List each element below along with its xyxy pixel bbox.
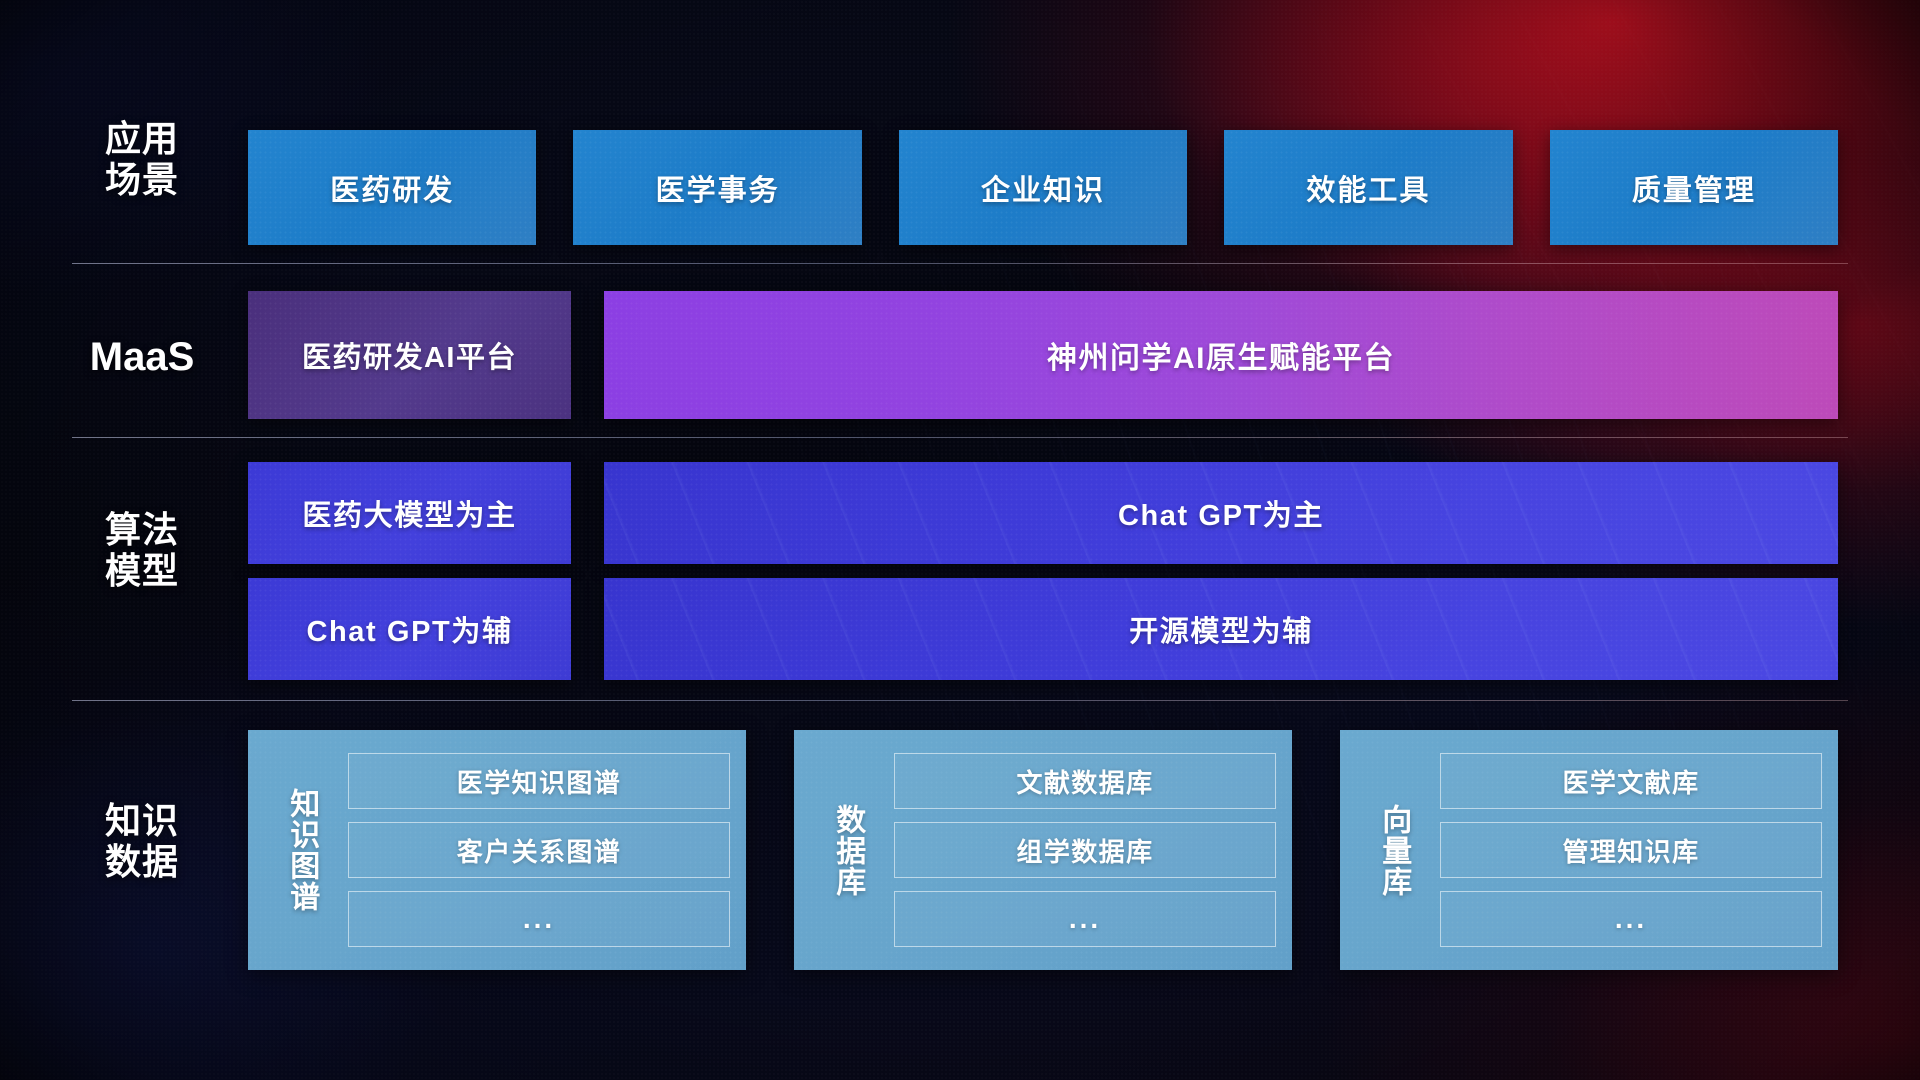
row-label-application: 应用 场景: [72, 118, 212, 200]
app-box-label: 质量管理: [1632, 167, 1756, 209]
maas-box-label: 神州问学AI原生赋能平台: [1047, 333, 1395, 377]
knowledge-item[interactable]: 管理知识库: [1440, 822, 1822, 878]
knowledge-panel-title: 向量库: [1356, 744, 1430, 956]
architecture-diagram: 应用 场景 医药研发 医学事务 企业知识 效能工具 质量管理 MaaS 医药研发…: [0, 0, 1920, 1080]
divider-maas-algorithm: [72, 437, 1848, 438]
knowledge-panel-knowledge-graph[interactable]: 知识图谱 医学知识图谱 客户关系图谱 ...: [248, 730, 746, 970]
algo-box-label: Chat GPT为主: [1118, 492, 1324, 534]
knowledge-panel-items: 文献数据库 组学数据库 ...: [884, 744, 1276, 956]
knowledge-row: 知识图谱 医学知识图谱 客户关系图谱 ... 数据库 文献数据库 组学数据库 .…: [248, 730, 1838, 970]
algorithm-row-primary: 医药大模型为主 Chat GPT为主: [248, 462, 1838, 564]
algo-box-chatgpt-secondary[interactable]: Chat GPT为辅: [248, 578, 571, 680]
maas-row: 医药研发AI平台 神州问学AI原生赋能平台: [248, 291, 1838, 419]
knowledge-item-more[interactable]: ...: [1440, 891, 1822, 947]
maas-box-shenzhou-wenxue-platform[interactable]: 神州问学AI原生赋能平台: [604, 291, 1838, 419]
app-box-label: 医药研发: [330, 167, 454, 209]
app-box-label: 企业知识: [981, 167, 1105, 209]
application-row: 医药研发 医学事务 企业知识 效能工具 质量管理: [248, 130, 1838, 245]
algo-box-label: Chat GPT为辅: [306, 608, 512, 650]
row-label-knowledge: 知识 数据: [72, 800, 212, 882]
knowledge-item-more[interactable]: ...: [894, 891, 1276, 947]
algo-box-label: 开源模型为辅: [1129, 608, 1313, 650]
row-label-maas: MaaS: [72, 335, 212, 381]
knowledge-panel-title: 知识图谱: [264, 744, 338, 956]
app-box-enterprise-knowledge[interactable]: 企业知识: [899, 130, 1187, 245]
knowledge-panel-vector-store[interactable]: 向量库 医学文献库 管理知识库 ...: [1340, 730, 1838, 970]
knowledge-item[interactable]: 医学文献库: [1440, 753, 1822, 809]
maas-box-pharma-ai-platform[interactable]: 医药研发AI平台: [248, 291, 571, 419]
knowledge-panel-items: 医学知识图谱 客户关系图谱 ...: [338, 744, 730, 956]
knowledge-item[interactable]: 医学知识图谱: [348, 753, 730, 809]
knowledge-panel-database[interactable]: 数据库 文献数据库 组学数据库 ...: [794, 730, 1292, 970]
knowledge-item[interactable]: 文献数据库: [894, 753, 1276, 809]
knowledge-item[interactable]: 客户关系图谱: [348, 822, 730, 878]
knowledge-item[interactable]: 组学数据库: [894, 822, 1276, 878]
app-box-label: 效能工具: [1306, 167, 1430, 209]
algo-box-label: 医药大模型为主: [302, 492, 516, 534]
algorithm-row-secondary: Chat GPT为辅 开源模型为辅: [248, 578, 1838, 680]
knowledge-panel-title: 数据库: [810, 744, 884, 956]
slide-canvas: 应用 场景 医药研发 医学事务 企业知识 效能工具 质量管理 MaaS 医药研发…: [0, 0, 1920, 1080]
app-box-pharma-rd[interactable]: 医药研发: [248, 130, 536, 245]
app-box-efficiency-tools[interactable]: 效能工具: [1224, 130, 1512, 245]
algo-box-chatgpt-primary[interactable]: Chat GPT为主: [604, 462, 1838, 564]
maas-box-label: 医药研发AI平台: [302, 334, 517, 376]
knowledge-item-more[interactable]: ...: [348, 891, 730, 947]
app-box-label: 医学事务: [656, 167, 780, 209]
app-box-medical-affairs[interactable]: 医学事务: [573, 130, 861, 245]
divider-application-maas: [72, 263, 1848, 264]
algo-box-pharma-large-model-primary[interactable]: 医药大模型为主: [248, 462, 571, 564]
app-box-quality-management[interactable]: 质量管理: [1550, 130, 1838, 245]
algo-box-opensource-secondary[interactable]: 开源模型为辅: [604, 578, 1838, 680]
knowledge-panel-items: 医学文献库 管理知识库 ...: [1430, 744, 1822, 956]
row-label-algorithm: 算法 模型: [72, 509, 212, 591]
divider-algorithm-knowledge: [72, 700, 1848, 701]
